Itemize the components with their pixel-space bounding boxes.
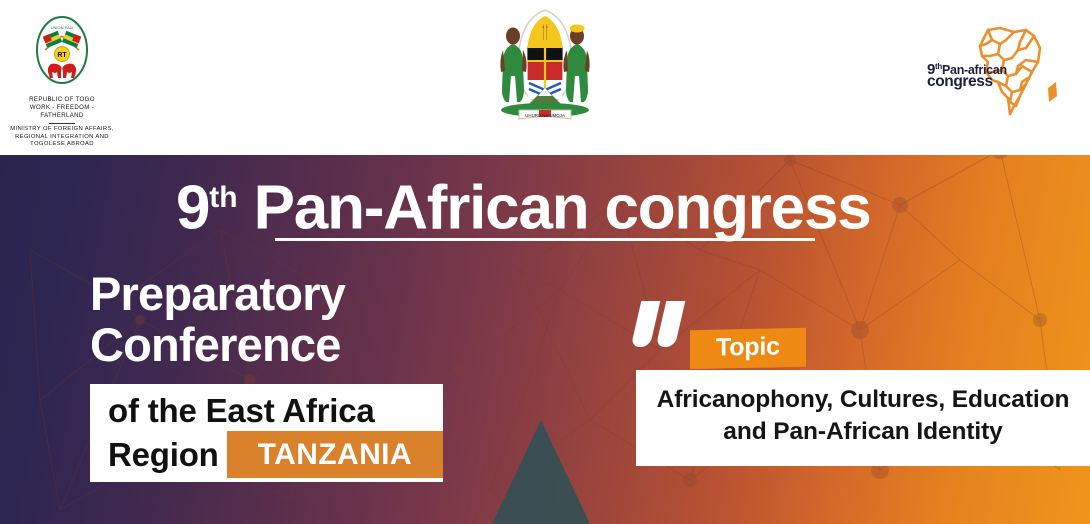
congress-logo-wordmark: 9thPan-african congress bbox=[927, 60, 1007, 88]
banner-title-ordinal: th bbox=[209, 181, 237, 214]
tanzania-motto: UHURU NA UMOJA bbox=[525, 113, 565, 118]
title-underline-rule bbox=[275, 238, 815, 241]
region-row: Region TANZANIA bbox=[90, 431, 443, 478]
congress-logo-ordinal: th bbox=[935, 62, 942, 71]
topic-text-box: Africanophony, Cultures, Education and P… bbox=[636, 370, 1090, 466]
subtitle-line-preparatory: Preparatory bbox=[90, 268, 450, 319]
togo-logo-line2: WORK - FREEDOM - FATHERLAND bbox=[8, 104, 116, 120]
togo-logo-divider bbox=[49, 123, 75, 124]
togo-logo-line5: TOGOLESE ABROAD bbox=[8, 141, 116, 149]
togo-ministry-logo: UNION PAIX bbox=[8, 14, 116, 149]
topic-tag-label: Topic bbox=[716, 332, 780, 362]
svg-text:RT: RT bbox=[57, 52, 67, 59]
subtitle-line-region: Region bbox=[90, 431, 219, 478]
banner-title-number: 9 bbox=[176, 174, 209, 243]
togo-coat-of-arms-icon: UNION PAIX bbox=[31, 14, 93, 94]
region-white-box: of the East Africa Region TANZANIA bbox=[90, 384, 443, 482]
togo-logo-line3: MINISTRY OF FOREIGN AFFAIRS, bbox=[8, 126, 116, 134]
subtitle-line-conference: Conference bbox=[90, 319, 450, 370]
quotation-mark-icon bbox=[636, 301, 692, 347]
banner-title-text: Pan-African congress bbox=[254, 174, 871, 243]
tanzania-coat-of-arms-icon: UHURU NA UMOJA bbox=[489, 4, 601, 122]
togo-logo-line1: REPUBLIC OF TOGO bbox=[8, 96, 116, 104]
svg-text:UNION PAIX: UNION PAIX bbox=[51, 25, 74, 30]
banner-title: 9th Pan-African congress bbox=[176, 163, 871, 244]
pan-african-congress-logo: 9thPan-african congress bbox=[922, 22, 1072, 118]
togo-logo-line4: REGIONAL INTEGRATION AND bbox=[8, 134, 116, 142]
topic-line-1: Africanophony, Cultures, Education bbox=[646, 384, 1080, 416]
topic-line-2: and Pan-African Identity bbox=[646, 416, 1080, 448]
subtitle-block: Preparatory Conference bbox=[90, 268, 450, 370]
header-logo-strip: UNION PAIX bbox=[0, 0, 1090, 155]
topic-tag-badge: Topic bbox=[690, 328, 806, 369]
subtitle-line-east-africa: of the East Africa bbox=[90, 390, 443, 431]
country-badge-tanzania: TANZANIA bbox=[227, 431, 443, 478]
congress-banner: 9th Pan-African congress Preparatory Con… bbox=[0, 0, 1090, 524]
